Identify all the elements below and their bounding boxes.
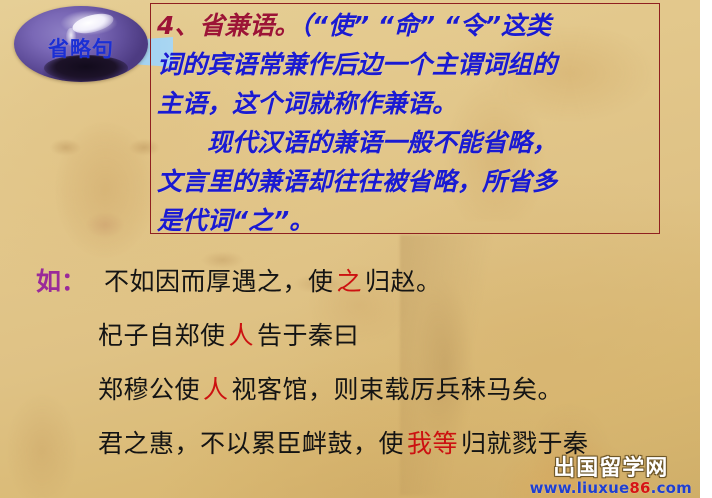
watermark-site-name: 出国留学网 (530, 458, 692, 480)
example-row-1-post: 归赵。 (365, 262, 442, 298)
example-label: 如： (36, 262, 86, 298)
watermark-url-pre: www.liuxue (530, 479, 630, 497)
definition-line-1-text: （“使” “命” “令”这类 (299, 11, 551, 40)
definition-line-4: 现代汉语的兼语一般不能省略， (157, 123, 700, 162)
example-row: 如： 不如因而厚遇之，使 之 归赵。 (36, 262, 686, 316)
definition-box-text: 4、省兼语。（“使” “命” “令”这类 词的宾语常兼作后边一个主谓词组的 主语… (157, 6, 700, 240)
example-row-1-highlight: 之 (334, 262, 366, 298)
slide-canvas: 省略句 4、省兼语。（“使” “命” “令”这类 词的宾语常兼作后边一个主谓词组… (0, 0, 700, 498)
example-row-2-pre: 杞子自郑使 (98, 316, 226, 352)
example-row-3-pre: 郑穆公使 (98, 370, 200, 406)
watermark-url: www.liuxue86.com (530, 481, 692, 496)
definition-line-3: 主语，这个词就称作兼语。 (157, 84, 700, 123)
topic-badge-label: 省略句 (14, 33, 148, 63)
definition-line-1: 4、省兼语。（“使” “命” “令”这类 (157, 6, 700, 45)
topic-badge: 省略句 (14, 6, 148, 82)
watermark-url-accent: 86 (629, 479, 650, 497)
example-row-2-post: 告于秦曰 (257, 316, 359, 352)
example-row-4-pre: 君之惠，不以累臣衅鼓，使 (98, 424, 404, 460)
watermark: 出国留学网 www.liuxue86.com (530, 458, 692, 496)
example-row-1-pre: 不如因而厚遇之，使 (104, 262, 334, 298)
definition-line-5: 文言里的兼语却往往被省略，所省多 (157, 162, 700, 201)
definition-line-6: 是代词“之”。 (157, 201, 700, 240)
example-row-2-highlight: 人 (226, 316, 258, 352)
right-margin-strip (700, 0, 712, 498)
example-row: 郑穆公使 人 视客馆，则束载厉兵秣马矣。 (36, 370, 686, 424)
example-row-3-highlight: 人 (200, 370, 232, 406)
definition-heading: 4、省兼语。 (157, 11, 299, 40)
definition-box: 4、省兼语。（“使” “命” “令”这类 词的宾语常兼作后边一个主谓词组的 主语… (150, 3, 660, 234)
example-row-3-post: 视客馆，则束载厉兵秣马矣。 (232, 370, 564, 406)
example-row: 杞子自郑使 人 告于秦曰 (36, 316, 686, 370)
example-row-4-highlight: 我等 (404, 424, 461, 460)
definition-line-2: 词的宾语常兼作后边一个主谓词组的 (157, 45, 700, 84)
example-row-4-post: 归就戮于秦 (461, 424, 589, 460)
example-list: 如： 不如因而厚遇之，使 之 归赵。 杞子自郑使 人 告于秦曰 郑穆公使 人 视… (36, 262, 686, 478)
watermark-url-post: .com (651, 479, 692, 497)
